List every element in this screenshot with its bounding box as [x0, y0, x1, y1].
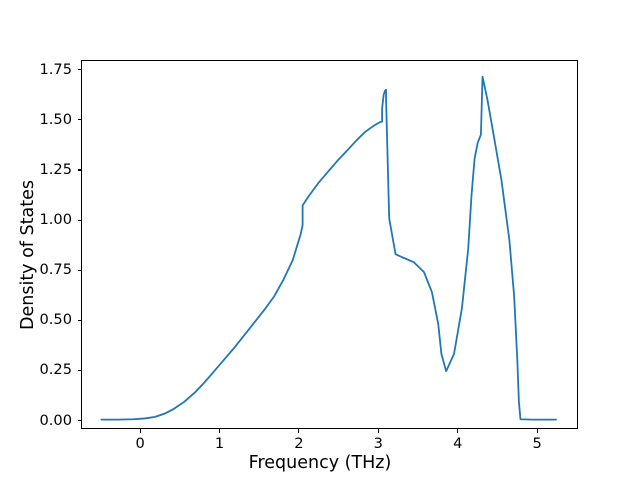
x-tick-label: 0 — [120, 435, 160, 452]
x-tick-mark — [457, 429, 458, 433]
x-tick-mark — [537, 429, 538, 433]
y-tick-label: 1.00 — [0, 211, 72, 228]
y-tick-label: 0.25 — [0, 361, 72, 378]
plot-area — [81, 60, 578, 429]
y-axis-label: Density of States — [18, 180, 38, 330]
y-tick-label: 1.25 — [0, 161, 72, 178]
y-tick-label: 0.00 — [0, 412, 72, 429]
x-tick-mark — [298, 429, 299, 433]
y-tick-label: 1.50 — [0, 111, 72, 128]
y-tick-label: 0.75 — [0, 261, 72, 278]
x-tick-label: 4 — [438, 435, 478, 452]
x-tick-label: 5 — [517, 435, 557, 452]
x-tick-mark — [140, 429, 141, 433]
x-tick-label: 2 — [279, 435, 319, 452]
y-tick-label: 0.50 — [0, 311, 72, 328]
dos-line-chart — [82, 61, 577, 428]
y-tick-label: 1.75 — [0, 61, 72, 78]
matplotlib-figure: Density of States Frequency (THz) 012345… — [0, 0, 640, 480]
dos-series-line — [101, 77, 556, 420]
x-tick-label: 3 — [358, 435, 398, 452]
x-tick-mark — [219, 429, 220, 433]
x-tick-label: 1 — [200, 435, 240, 452]
x-tick-mark — [378, 429, 379, 433]
x-axis-label: Frequency (THz) — [0, 453, 640, 473]
